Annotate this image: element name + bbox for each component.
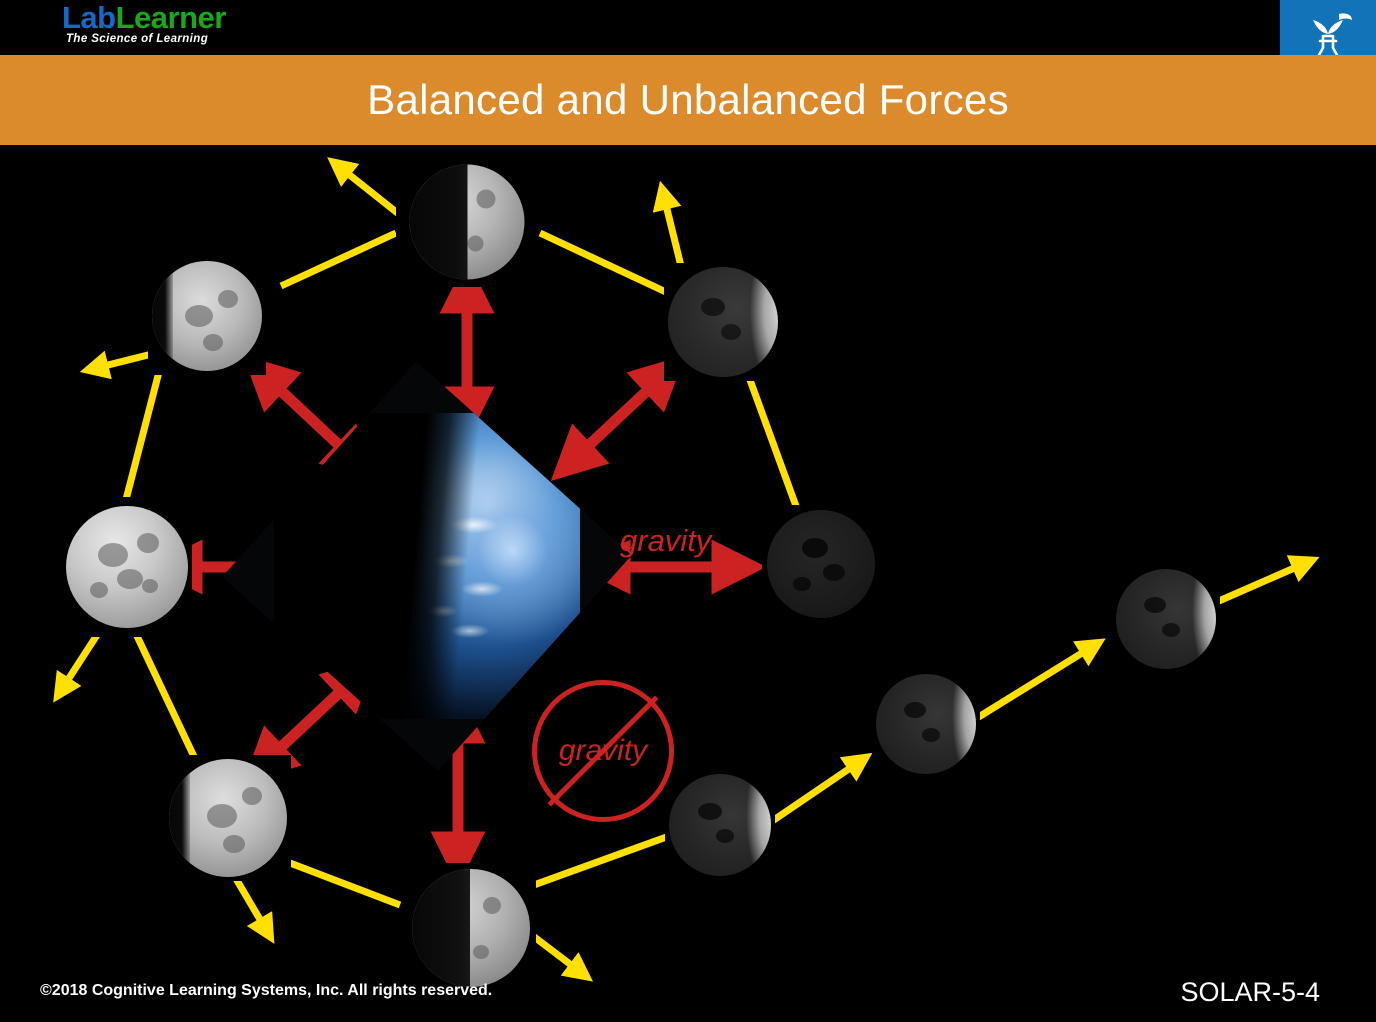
gravity-arrow-lower-left (262, 675, 358, 765)
title-banner: Balanced and Unbalanced Forces (0, 55, 1376, 145)
footer-code: SOLAR-5-4 (1180, 977, 1320, 1008)
escape-arrow-1 (762, 760, 862, 828)
moon-right (762, 505, 880, 623)
moon-top (396, 157, 538, 287)
moon-lit-limb (743, 774, 771, 876)
orbit-path-top-to-upper-right (540, 233, 668, 293)
logo-wordmark: LabLearner (62, 2, 322, 33)
logo-lab-text: Lab (62, 0, 116, 35)
logo-tagline: The Science of Learning (66, 34, 322, 46)
no-gravity-symbol: gravity (532, 680, 674, 822)
moon-escape-2 (872, 670, 980, 778)
moon-lit-limb (1189, 569, 1216, 669)
moon-upper-left (148, 257, 266, 375)
moon-lit-limb (949, 674, 976, 774)
orbit-path-top-to-upper-left (281, 233, 396, 286)
page-title: Balanced and Unbalanced Forces (367, 76, 1009, 124)
orbit-path-bottom-to-escape (520, 835, 672, 890)
gravity-arrow-upper-right (570, 373, 666, 463)
velocity-arrow-top (337, 165, 400, 215)
orbit-path-left-to-lower-left (128, 617, 198, 765)
slide: LabLearner The Science of Learning (0, 0, 1376, 1022)
moon-lit-limb (746, 267, 778, 377)
escape-arrow-3 (1212, 562, 1308, 604)
moon-escape-3 (1112, 565, 1220, 673)
orbit-path-upper-right-to-right (742, 358, 800, 517)
footer-copyright: ©2018 Cognitive Learning Systems, Inc. A… (40, 982, 492, 1000)
escape-arrow-2 (977, 645, 1095, 718)
diagram-stage: gravity gravity (0, 145, 1376, 1022)
moon-escape-1 (665, 770, 775, 880)
moon-bottom (406, 863, 536, 993)
header-bar: LabLearner The Science of Learning (0, 0, 1376, 55)
orbit-path-upper-left-to-left (122, 368, 160, 515)
logo-learner-text: Learner (116, 0, 226, 35)
moon-left (62, 497, 192, 637)
lablearner-logo: LabLearner The Science of Learning (62, 2, 322, 50)
moon-lower-left (165, 755, 291, 881)
gravity-label: gravity (620, 523, 711, 559)
moon-upper-right (664, 263, 782, 381)
